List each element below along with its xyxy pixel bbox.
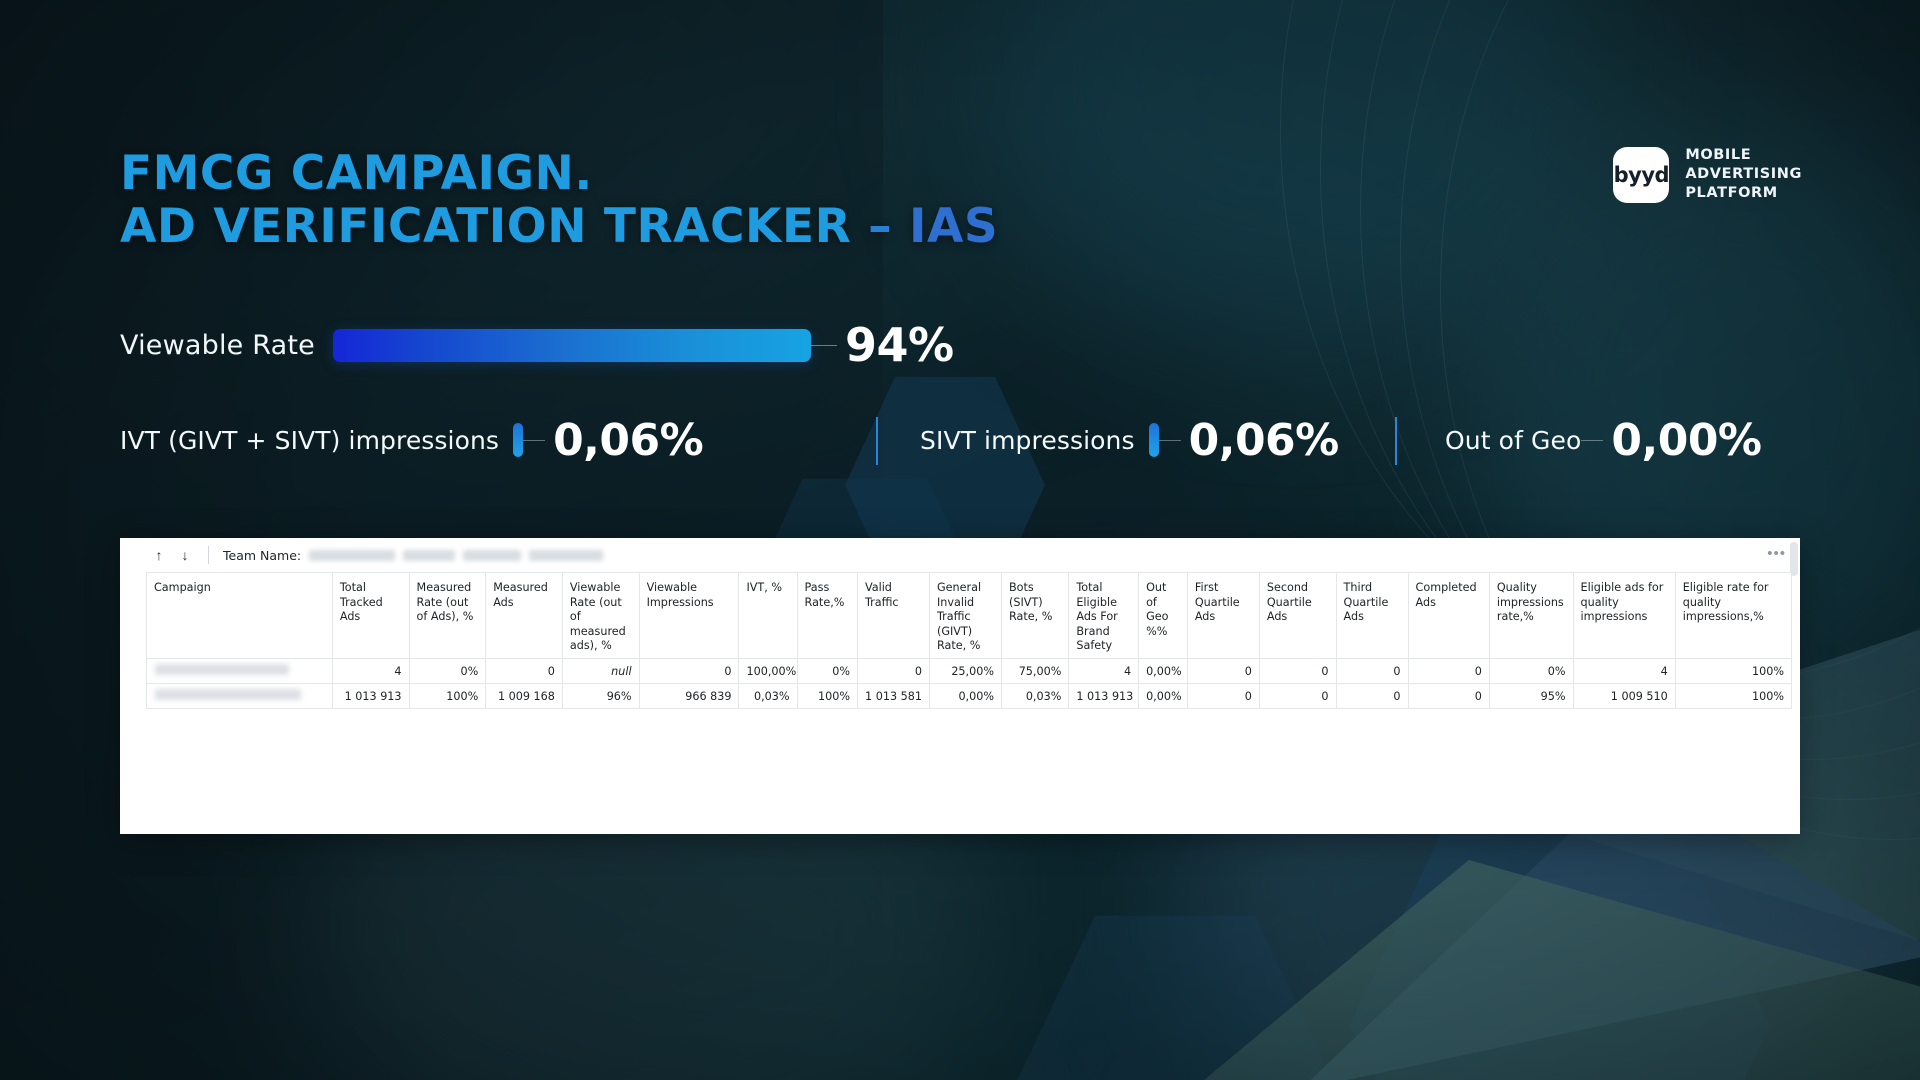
column-header-out-of-geo[interactable]: Out of Geo %%: [1139, 573, 1188, 659]
column-header-ivt[interactable]: IVT, %: [739, 573, 797, 659]
table-row[interactable]: 4 0% 0 null 0 100,00% 0% 0 25,00% 75,00%…: [147, 659, 1792, 684]
cell-value: 0%: [409, 659, 486, 684]
team-name-redacted-value: [403, 550, 455, 561]
table-row[interactable]: 1 013 913 100% 1 009 168 96% 966 839 0,0…: [147, 684, 1792, 709]
table-toolbar: ↑ ↓ Team Name:: [120, 538, 1800, 572]
cell-value: 100%: [409, 684, 486, 709]
cell-value: 1 009 168: [486, 684, 563, 709]
byyd-wordmark: byyd: [1614, 163, 1669, 187]
cell-value: 0,00%: [929, 684, 1001, 709]
cell-value: null: [562, 659, 639, 684]
column-header-viewable-rate[interactable]: Viewable Rate (out of measured ads), %: [562, 573, 639, 659]
cell-campaign: [147, 659, 333, 684]
column-header-total-tracked-ads[interactable]: Total Tracked Ads: [332, 573, 409, 659]
metric-divider: [876, 417, 878, 465]
column-header-measured-ads[interactable]: Measured Ads: [486, 573, 563, 659]
metric-ivt-impressions: IVT (GIVT + SIVT) impressions 0,06%: [120, 405, 703, 475]
byyd-logo-icon: byyd: [1613, 147, 1669, 203]
cell-value: 0%: [797, 659, 857, 684]
metric-connector: [523, 440, 545, 441]
column-header-campaign[interactable]: Campaign: [147, 573, 333, 659]
cell-value: 0: [1408, 684, 1489, 709]
cell-value: 96%: [562, 684, 639, 709]
cell-value: 100,00%: [739, 659, 797, 684]
team-name-label: Team Name:: [223, 548, 301, 563]
cell-value: 0: [1187, 659, 1259, 684]
page-title-line1: FMCG CAMPAIGN.: [120, 146, 593, 201]
cell-value: 4: [332, 659, 409, 684]
cell-campaign: [147, 684, 333, 709]
column-header-givt-rate[interactable]: General Invalid Traffic (GIVT) Rate, %: [929, 573, 1001, 659]
metric-connector: [1159, 440, 1181, 441]
viewable-rate-bar: [333, 329, 811, 362]
toolbar-divider: [208, 546, 209, 564]
column-header-third-quartile[interactable]: Third Quartile Ads: [1336, 573, 1408, 659]
cell-value: 1 013 581: [857, 684, 929, 709]
brand-tagline-line2: ADVERTISING: [1685, 165, 1802, 184]
column-header-completed-ads[interactable]: Completed Ads: [1408, 573, 1489, 659]
cell-value: 100%: [1675, 684, 1791, 709]
cell-value: 0: [1259, 659, 1336, 684]
campaign-redacted-value: [155, 664, 289, 675]
team-name-redacted-value: [309, 550, 395, 561]
brand-tagline-line1: MOBILE: [1685, 146, 1802, 165]
team-name-redacted-value: [529, 550, 603, 561]
brand-tagline: MOBILE ADVERTISING PLATFORM: [1685, 146, 1802, 203]
cell-value: 100%: [797, 684, 857, 709]
metric-label: IVT (GIVT + SIVT) impressions: [120, 426, 499, 455]
metric-sivt-impressions: SIVT impressions 0,06%: [920, 405, 1339, 475]
page-title-vendor: IAS: [909, 199, 998, 254]
cell-value: 75,00%: [1001, 659, 1068, 684]
metric-label: SIVT impressions: [920, 426, 1135, 455]
brand-tagline-line3: PLATFORM: [1685, 184, 1802, 203]
column-header-eligible-rate-quality[interactable]: Eligible rate for quality impressions,%: [1675, 573, 1791, 659]
page-title-line2: AD VERIFICATION TRACKER – IAS: [120, 201, 998, 254]
column-header-total-eligible-brand-safety[interactable]: Total Eligible Ads For Brand Safety: [1069, 573, 1139, 659]
cell-value: 0,00%: [1139, 684, 1188, 709]
campaign-redacted-value: [155, 689, 301, 700]
cell-value: 95%: [1489, 684, 1573, 709]
metric-connector: [1581, 440, 1603, 441]
slide-root: FMCG CAMPAIGN. AD VERIFICATION TRACKER –…: [0, 0, 1920, 1080]
cell-value: 1 009 510: [1573, 684, 1675, 709]
column-header-pass-rate[interactable]: Pass Rate,%: [797, 573, 857, 659]
cell-value: 966 839: [639, 684, 739, 709]
metric-value: 0,06%: [553, 415, 703, 466]
report-table-panel: ••• ↑ ↓ Team Name: Campaign: [120, 538, 1800, 834]
cell-value: 0: [1408, 659, 1489, 684]
brand-logo: byyd MOBILE ADVERTISING PLATFORM: [1613, 146, 1802, 203]
metric-strip: IVT (GIVT + SIVT) impressions 0,06% SIVT…: [120, 405, 1800, 475]
column-header-second-quartile[interactable]: Second Quartile Ads: [1259, 573, 1336, 659]
viewable-rate-label: Viewable Rate: [120, 330, 315, 361]
cell-value: 4: [1069, 659, 1139, 684]
metric-value: 0,00%: [1611, 415, 1761, 466]
viewable-rate-row: Viewable Rate 94%: [120, 318, 954, 372]
team-name-redacted-value: [463, 550, 521, 561]
metric-indicator-bar: [1149, 423, 1159, 457]
cell-value: 0: [1336, 659, 1408, 684]
sort-descending-icon[interactable]: ↓: [172, 547, 198, 563]
cell-value: 0: [639, 659, 739, 684]
column-header-viewable-impressions[interactable]: Viewable Impressions: [639, 573, 739, 659]
column-header-quality-impressions-rate[interactable]: Quality impressions rate,%: [1489, 573, 1573, 659]
cell-value: 25,00%: [929, 659, 1001, 684]
sort-ascending-icon[interactable]: ↑: [146, 547, 172, 563]
cell-value: 4: [1573, 659, 1675, 684]
column-header-eligible-ads-quality[interactable]: Eligible ads for quality impressions: [1573, 573, 1675, 659]
cell-value: 0: [486, 659, 563, 684]
report-table: Campaign Total Tracked Ads Measured Rate…: [146, 572, 1792, 709]
cell-value: 0: [1187, 684, 1259, 709]
table-header-row: Campaign Total Tracked Ads Measured Rate…: [147, 573, 1792, 659]
cell-value: 0: [1336, 684, 1408, 709]
column-header-bots-sivt-rate[interactable]: Bots (SIVT) Rate, %: [1001, 573, 1068, 659]
viewable-rate-connector: [811, 345, 837, 346]
metric-out-of-geo: Out of Geo 0,00%: [1445, 405, 1762, 475]
panel-more-options-icon[interactable]: •••: [1767, 546, 1786, 561]
page-title-line2-main: AD VERIFICATION TRACKER: [120, 199, 868, 254]
panel-scrollbar[interactable]: [1790, 542, 1798, 576]
column-header-valid-traffic[interactable]: Valid Traffic: [857, 573, 929, 659]
column-header-first-quartile[interactable]: First Quartile Ads: [1187, 573, 1259, 659]
page-title-dash: –: [868, 199, 909, 254]
page-title: FMCG CAMPAIGN. AD VERIFICATION TRACKER –…: [120, 148, 998, 253]
metric-indicator-bar: [513, 423, 523, 457]
metric-label: Out of Geo: [1445, 426, 1581, 455]
cell-value: 0,00%: [1139, 659, 1188, 684]
cell-value: 0,03%: [739, 684, 797, 709]
cell-value: 1 013 913: [1069, 684, 1139, 709]
metric-value: 0,06%: [1189, 415, 1339, 466]
metric-divider: [1395, 417, 1397, 465]
cell-value: 0%: [1489, 659, 1573, 684]
cell-value: 0: [1259, 684, 1336, 709]
viewable-rate-value: 94%: [845, 318, 954, 372]
cell-value: 100%: [1675, 659, 1791, 684]
cell-value: 1 013 913: [332, 684, 409, 709]
column-header-measured-rate[interactable]: Measured Rate (out of Ads), %: [409, 573, 486, 659]
cell-value: 0: [857, 659, 929, 684]
cell-value: 0,03%: [1001, 684, 1068, 709]
